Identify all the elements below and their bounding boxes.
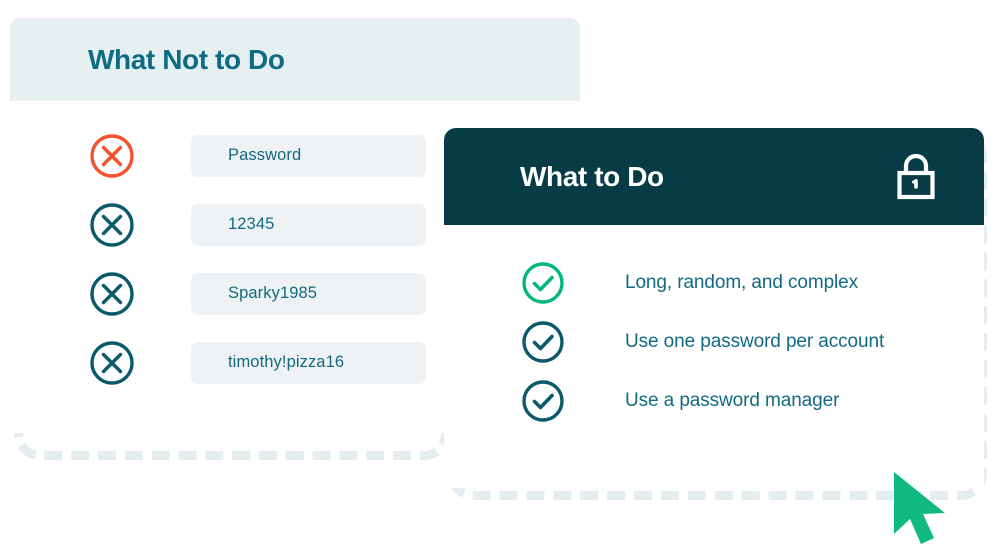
card-what-to-do: What to Do Long, random, and complex <box>444 128 984 488</box>
circle-check-icon <box>520 378 566 424</box>
list-item: Use one password per account <box>444 312 984 371</box>
password-value: Sparky1985 <box>228 284 317 303</box>
circle-x-icon <box>88 270 136 318</box>
good-practice-label: Use one password per account <box>625 331 884 353</box>
good-practice-list: Long, random, and complex Use one passwo… <box>444 225 984 430</box>
password-value: 12345 <box>228 215 274 234</box>
password-field[interactable]: 12345 <box>191 204 426 246</box>
password-value: timothy!pizza16 <box>228 353 344 372</box>
good-practice-label: Use a password manager <box>625 390 839 412</box>
circle-x-icon <box>88 339 136 387</box>
circle-x-icon <box>88 201 136 249</box>
password-field[interactable]: Password <box>191 135 426 177</box>
password-value: Password <box>228 146 301 165</box>
card-body-what-to-do: Long, random, and complex Use one passwo… <box>444 225 984 430</box>
padlock-icon <box>892 151 940 203</box>
list-item: Use a password manager <box>444 371 984 430</box>
good-practice-label: Long, random, and complex <box>625 272 858 294</box>
page-title-what-not-to-do: What Not to Do <box>88 44 285 76</box>
card-header-what-not-to-do: What Not to Do <box>10 18 580 101</box>
circle-x-icon <box>88 132 136 180</box>
password-field[interactable]: Sparky1985 <box>191 273 426 315</box>
card-header-what-to-do: What to Do <box>444 128 984 225</box>
password-field[interactable]: timothy!pizza16 <box>191 342 426 384</box>
circle-check-icon <box>520 260 566 306</box>
list-item: Long, random, and complex <box>444 253 984 312</box>
circle-check-icon <box>520 319 566 365</box>
page-title-what-to-do: What to Do <box>520 161 664 193</box>
